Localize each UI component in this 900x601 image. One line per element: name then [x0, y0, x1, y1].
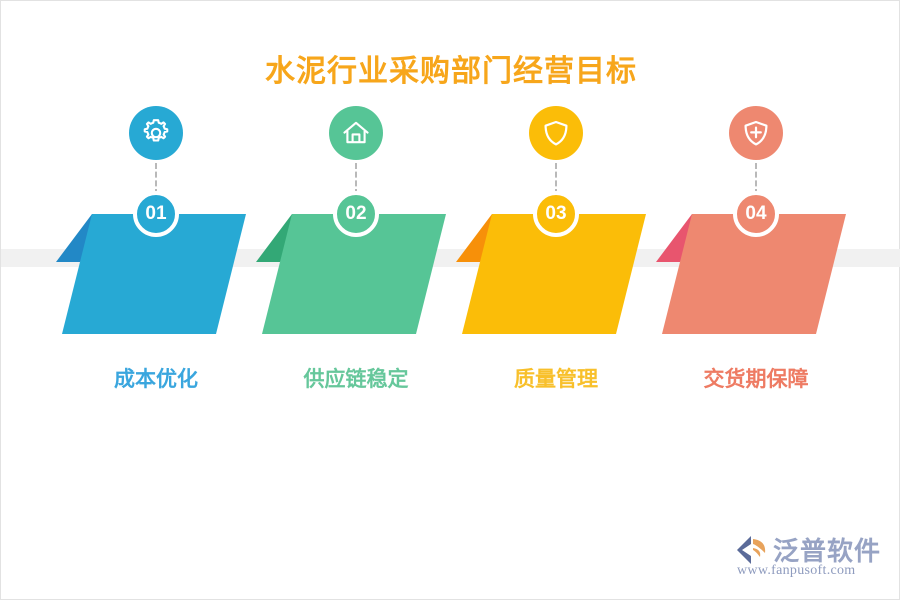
card-column-4[interactable]: 04 交货期保障	[656, 1, 856, 601]
icon-circle-2[interactable]	[329, 106, 383, 160]
shield-icon	[540, 117, 572, 149]
card-label-3: 质量管理	[456, 363, 656, 393]
step-badge-2[interactable]: 02	[333, 191, 379, 237]
step-badge-4[interactable]: 04	[733, 191, 779, 237]
infographic-canvas: 水泥行业采购部门经营目标 01 成本优化	[1, 1, 900, 601]
step-number-2: 02	[345, 203, 366, 225]
card-label-4: 交货期保障	[656, 363, 856, 393]
icon-circle-1[interactable]	[129, 106, 183, 160]
card-label-2: 供应链稳定	[256, 363, 456, 393]
icon-circle-3[interactable]	[529, 106, 583, 160]
card-label-1: 成本优化	[56, 363, 256, 393]
step-number-4: 04	[745, 203, 766, 225]
fanpu-logo-icon	[735, 535, 771, 565]
shield-plus-icon	[740, 117, 772, 149]
brand-logo: 泛普软件 www.fanpusoft.com	[735, 531, 885, 587]
step-number-1: 01	[145, 203, 166, 225]
gear-icon	[140, 117, 172, 149]
icon-circle-4[interactable]	[729, 106, 783, 160]
step-badge-1[interactable]: 01	[133, 191, 179, 237]
step-number-3: 03	[545, 203, 566, 225]
card-column-3[interactable]: 03 质量管理	[456, 1, 656, 601]
step-badge-3[interactable]: 03	[533, 191, 579, 237]
brand-url: www.fanpusoft.com	[737, 563, 856, 579]
home-icon	[340, 117, 372, 149]
card-column-2[interactable]: 02 供应链稳定	[256, 1, 456, 601]
card-column-1[interactable]: 01 成本优化	[56, 1, 256, 601]
